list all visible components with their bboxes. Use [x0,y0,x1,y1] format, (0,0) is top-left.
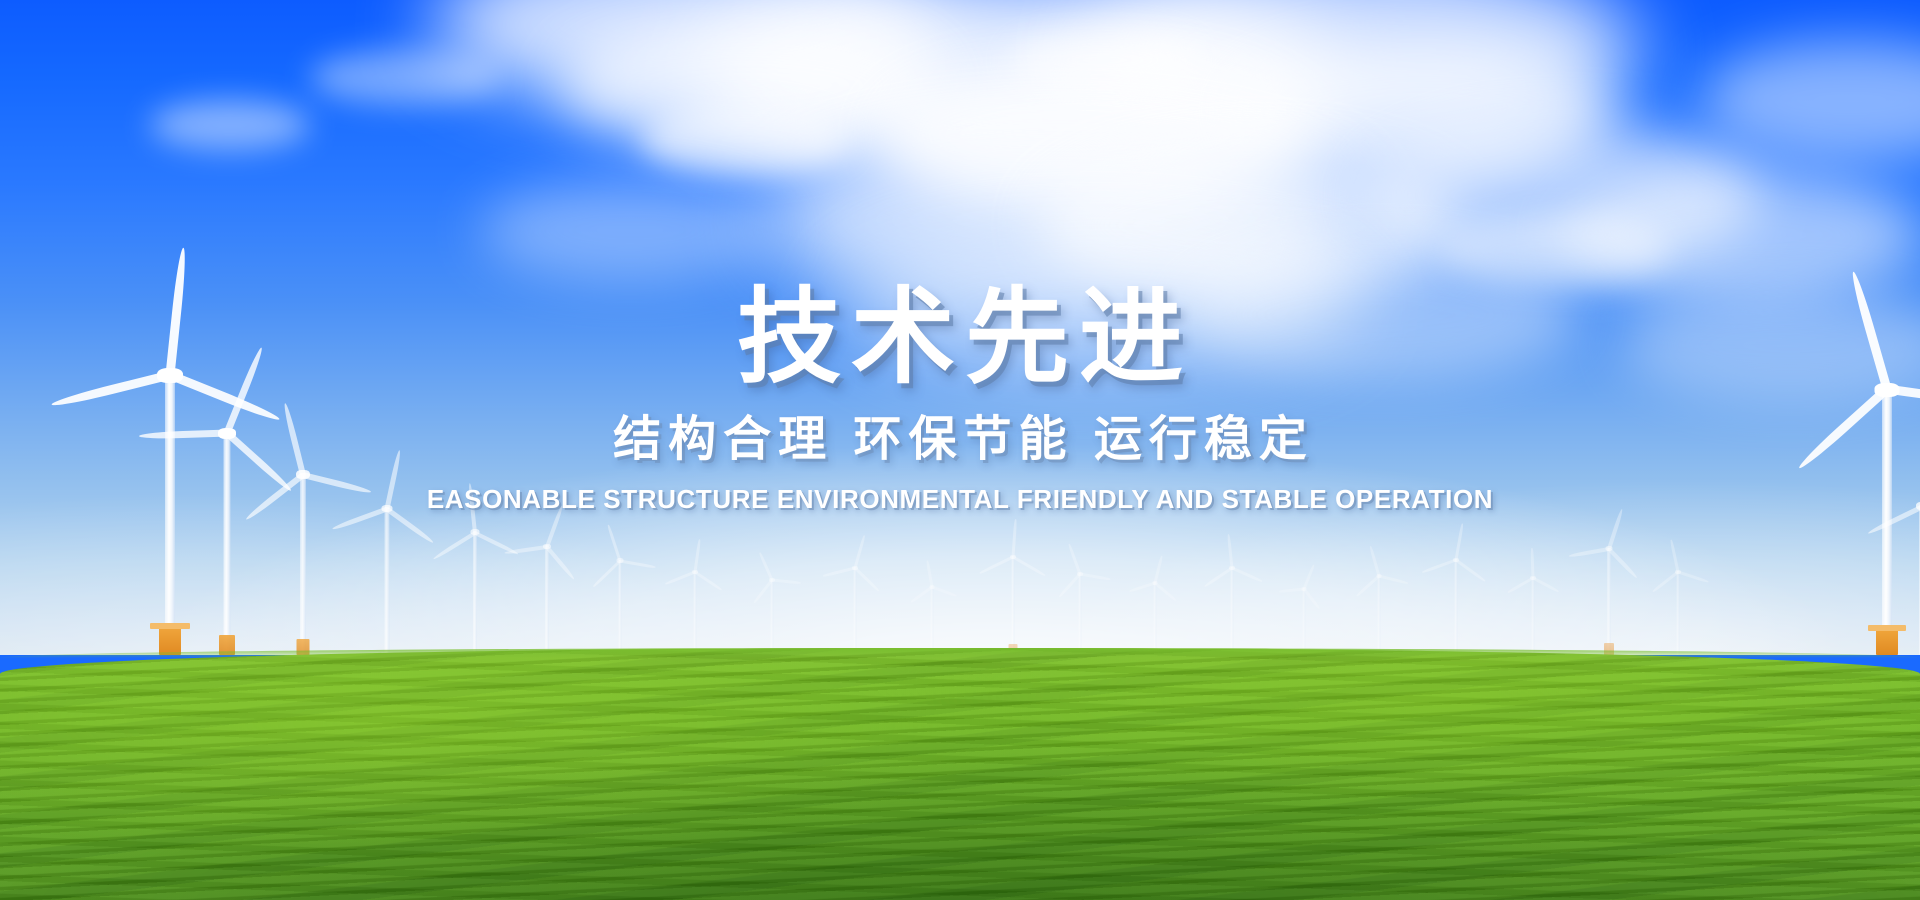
banner-subheadline: 结构合理 环保节能 运行稳定 [606,416,1314,464]
banner-english-tagline: EASONABLE STRUCTURE ENVIRONMENTAL FRIEND… [427,486,1493,512]
grass-field [0,648,1920,900]
banner-headline: 技术先进 [727,286,1193,390]
grass-shading [0,648,1920,900]
hero-banner: 技术先进 结构合理 环保节能 运行稳定 EASONABLE STRUCTURE … [0,0,1920,900]
banner-copy: 技术先进 结构合理 环保节能 运行稳定 EASONABLE STRUCTURE … [0,0,1920,655]
